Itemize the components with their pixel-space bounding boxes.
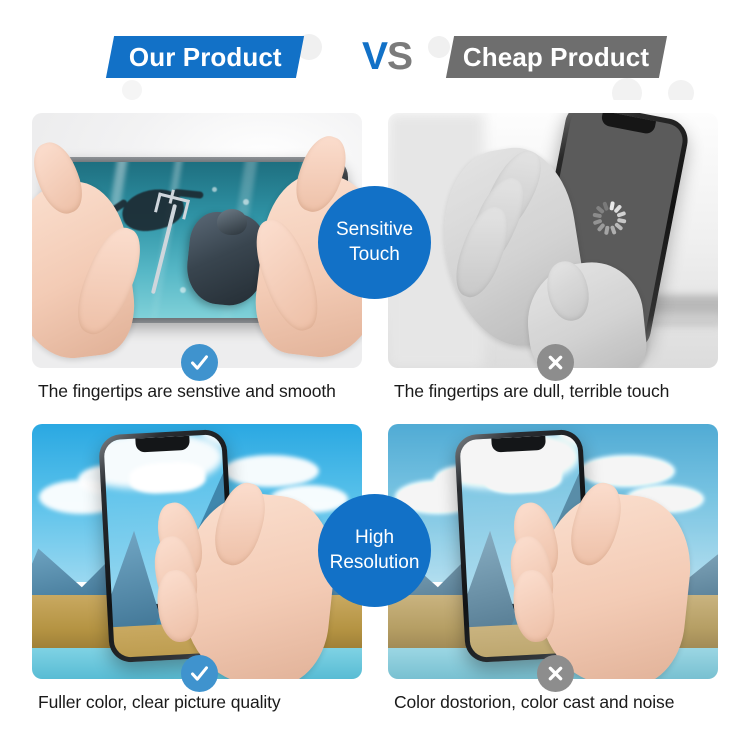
bubble-line-2: Touch [349,243,400,267]
loading-spinner-icon [590,198,630,238]
caption-high-resolution-bad: Color dostorion, color cast and noise [394,692,734,718]
phone-notch [600,113,656,135]
versus-v-letter: V [362,35,387,79]
caption-high-resolution-good: Fuller color, clear picture quality [38,692,378,718]
verdict-cross-badge [537,655,574,692]
verdict-check-badge [181,655,218,692]
panel-sensitive-touch-bad [388,113,718,368]
verdict-cross-badge [537,344,574,381]
cheap-product-label: Cheap Product [463,42,649,73]
bubble-line-2: Resolution [330,551,420,575]
decorative-circle [428,36,450,58]
decorative-circle [122,80,142,100]
panel-high-resolution-good [32,424,362,679]
phone-notch [491,436,546,453]
versus-label: VS [347,32,427,82]
check-icon [189,663,210,684]
illustration-loading-phone-in-hands [388,113,718,368]
bubble-line-1: High [355,526,394,550]
caption-sensitive-touch-good: The fingertips are senstive and smooth [38,381,378,407]
panel-high-resolution-bad [388,424,718,679]
illustration-game-phone-in-hands [32,113,362,368]
our-product-banner: Our Product [106,36,304,78]
illustration-landscape-phone-washed [388,424,718,679]
phone-notch [135,436,190,453]
caption-sensitive-touch-bad: The fingertips are dull, terrible touch [394,381,734,407]
illustration-landscape-phone-vivid [32,424,362,679]
verdict-check-badge [181,344,218,381]
bubble-line-1: Sensitive [336,218,413,242]
panel-sensitive-touch-good [32,113,362,368]
cross-icon [546,353,565,372]
versus-s-letter: S [387,35,412,79]
cross-icon [546,664,565,683]
decorative-circle [612,78,642,100]
feature-bubble-sensitive-touch: Sensitive Touch [318,186,431,299]
diver-helmet [217,209,247,235]
feature-bubble-high-resolution: High Resolution [318,494,431,607]
decorative-circle [668,80,694,100]
cheap-product-banner: Cheap Product [446,36,667,78]
comparison-header: Our Product VS Cheap Product [0,0,750,100]
check-icon [189,352,210,373]
our-product-label: Our Product [129,42,282,73]
